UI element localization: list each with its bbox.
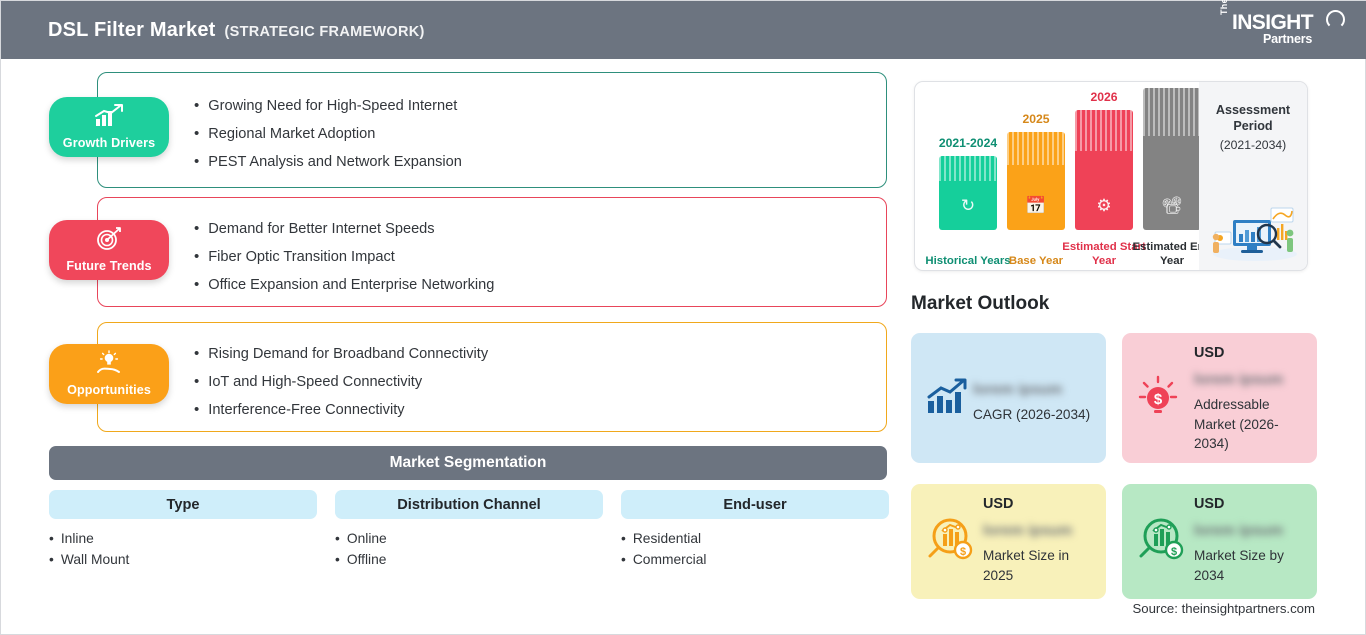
history-clock-icon: ↻ [939,196,997,216]
segmentation-items: Inline Wall Mount [49,528,317,570]
hand-lightbulb-icon [49,350,169,376]
assessment-period-panel: Assessment Period (2021-2034) [1199,82,1307,270]
list-item: Interference-Free Connectivity [194,396,488,424]
list-item: Fiber Optic Transition Impact [194,243,494,271]
outlook-caption: Market Size in 2025 [983,546,1095,585]
logo-partners: Partners [1263,32,1312,46]
page-subtitle: (STRATEGIC FRAMEWORK) [225,24,425,40]
list-item: Offline [335,549,603,570]
source-note: Source: theinsightpartners.com [1132,601,1315,616]
list-item: Residential [621,528,889,549]
bar-2034: 2034 📽 Estimated End Year [1143,88,1201,230]
outlook-currency: USD [1194,496,1224,512]
bar-year-label: 2021-2024 [925,136,1011,150]
segmentation-column-title: End-user [621,490,889,519]
bar-2026: 2026 ⚙ Estimated Start Year [1075,110,1133,230]
infographic-page: DSL Filter Market(STRATEGIC FRAMEWORK) T… [0,0,1366,635]
segmentation-heading: Market Segmentation [49,446,887,480]
outlook-caption: Market Size by 2034 [1194,546,1306,585]
magnifier-chart-dollar-icon: $ [925,514,975,564]
badge-label: Growth Drivers [49,136,169,150]
bullet-list: Rising Demand for Broadband Connectivity… [194,340,488,424]
bar-hatch [1007,132,1065,165]
bar-2021-2024: 2021-2024 ↻ Historical Years [939,156,997,230]
list-item: Rising Demand for Broadband Connectivity [194,340,488,368]
bullet-list: Demand for Better Internet Speeds Fiber … [194,215,494,299]
outlook-currency: USD [1194,345,1224,361]
outlook-value: lorem ipsum [1194,522,1283,539]
outlook-caption: Addressable Market (2026-2034) [1194,395,1308,454]
assessment-period-title: Assessment Period [1199,102,1307,134]
list-item: Online [335,528,603,549]
insight-partners-logo: The INSIGHT Partners [1219,9,1347,51]
outlook-value: lorem ipsum [983,522,1072,539]
segmentation-column-title: Distribution Channel [335,490,603,519]
badge-label: Future Trends [49,259,169,273]
segmentation-items: Residential Commercial [621,528,889,570]
list-item: PEST Analysis and Network Expansion [194,148,462,176]
magnifier-chart-dollar-icon: $ [1136,514,1186,564]
framework-block-future-trends: Demand for Better Internet Speeds Fiber … [97,197,887,307]
list-item: Commercial [621,549,889,570]
target-dart-icon [49,226,169,252]
bar-hatch [1143,88,1201,136]
list-item: Inline [49,528,317,549]
calendar-icon: 📅 [1007,196,1065,216]
badge-growth-drivers[interactable]: Growth Drivers [49,97,169,157]
bar-year-label: 2025 [993,112,1079,126]
bar-hatch [1075,110,1133,151]
page-title: DSL Filter Market(STRATEGIC FRAMEWORK) [48,19,425,42]
segmentation-column-title: Type [49,490,317,519]
outlook-value: lorem ipsum [1194,371,1283,388]
svg-text:$: $ [1154,391,1163,408]
assessment-period-range: (2021-2034) [1199,138,1307,152]
segmentation-items: Online Offline [335,528,603,570]
logo-ring-icon [1326,10,1345,29]
logo-the: The [1219,0,1229,15]
list-item: IoT and High-Speed Connectivity [194,368,488,396]
outlook-currency: USD [983,496,1013,512]
analytics-illustration [1205,198,1301,264]
badge-future-trends[interactable]: Future Trends [49,220,169,280]
list-item: Demand for Better Internet Speeds [194,215,494,243]
market-outlook-title: Market Outlook [911,293,1049,315]
framework-block-opportunities: Rising Demand for Broadband Connectivity… [97,322,887,432]
presentation-screen-icon: 📽 [1143,196,1201,216]
outlook-value: lorem ipsum [973,381,1062,398]
framework-block-growth-drivers: Growing Need for High-Speed Internet Reg… [97,72,887,188]
chart-plot-area: 2021-2024 ↻ Historical Years 2025 📅 Base… [915,82,1197,270]
svg-text:$: $ [1171,546,1177,558]
lightbulb-dollar-icon: $ [1136,375,1180,419]
page-title-text: DSL Filter Market [48,19,216,41]
bar-chart-growth-icon [49,103,169,129]
list-item: Office Expansion and Enterprise Networki… [194,271,494,299]
list-item: Wall Mount [49,549,317,570]
assessment-period-chart: 2021-2024 ↻ Historical Years 2025 📅 Base… [914,81,1308,271]
page-header: DSL Filter Market(STRATEGIC FRAMEWORK) T… [1,1,1366,59]
bar-chart-arrow-icon [925,377,969,417]
list-item: Growing Need for High-Speed Internet [194,92,462,120]
outlook-card-market-size-2034[interactable]: $ USD lorem ipsum Market Size by 2034 [1122,484,1317,599]
outlook-card-addressable-market[interactable]: $ USD lorem ipsum Addressable Market (20… [1122,333,1317,463]
segmentation-column-end-user: End-user Residential Commercial [621,490,889,570]
list-item: Regional Market Adoption [194,120,462,148]
svg-text:$: $ [960,546,966,558]
bar-hatch [939,156,997,181]
badge-opportunities[interactable]: Opportunities [49,344,169,404]
chart-settings-icon: ⚙ [1075,196,1133,216]
bar-year-label: 2026 [1061,90,1147,104]
outlook-card-market-size-2025[interactable]: $ USD lorem ipsum Market Size in 2025 [911,484,1106,599]
outlook-card-cagr[interactable]: lorem ipsum CAGR (2026-2034) [911,333,1106,463]
badge-label: Opportunities [49,383,169,397]
bar-2025: 2025 📅 Base Year [1007,132,1065,230]
segmentation-column-type: Type Inline Wall Mount [49,490,317,570]
bullet-list: Growing Need for High-Speed Internet Reg… [194,92,462,176]
outlook-caption: CAGR (2026-2034) [973,405,1097,425]
segmentation-column-distribution-channel: Distribution Channel Online Offline [335,490,603,570]
